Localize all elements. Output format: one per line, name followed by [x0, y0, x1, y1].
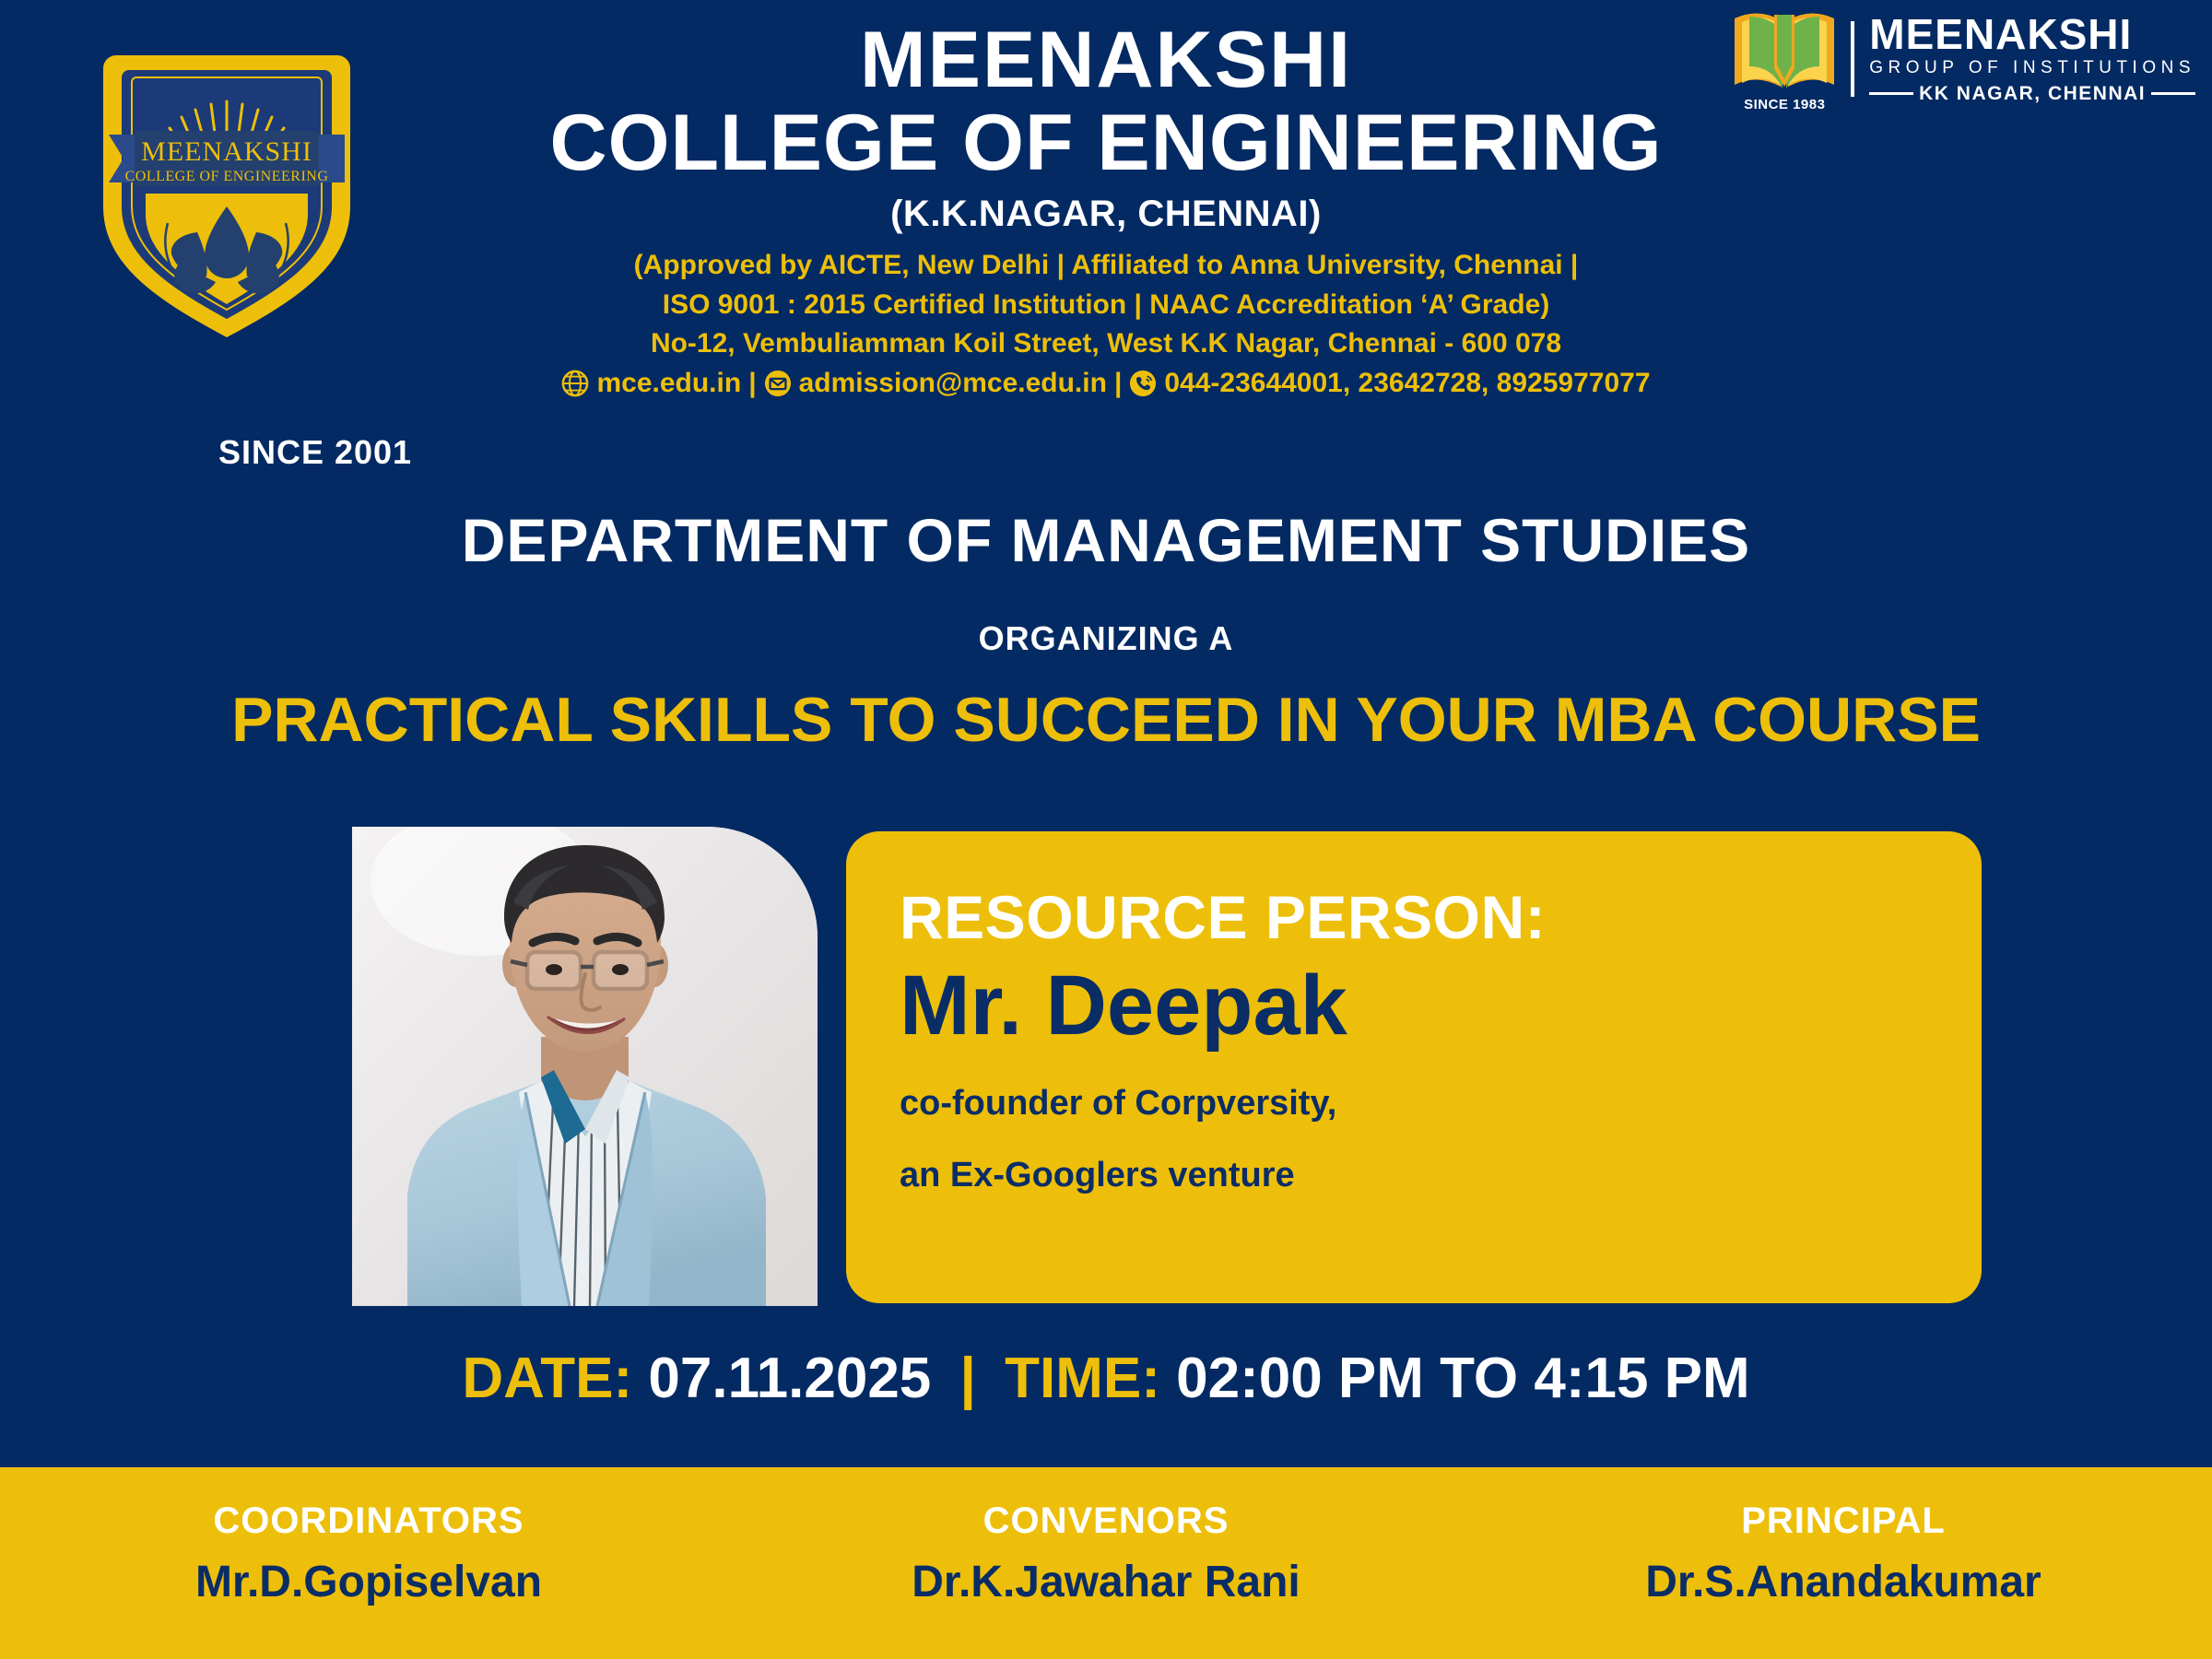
- location-rule-left: [1869, 92, 1913, 95]
- event-poster: MEENAKSHI COLLEGE OF ENGINEERING SINCE 2…: [0, 0, 2212, 1659]
- college-address: No-12, Vembuliamman Koil Street, West K.…: [461, 324, 1751, 364]
- speaker-portrait-image: [352, 827, 818, 1306]
- date-label: DATE:: [462, 1347, 632, 1410]
- schedule-separator: |: [960, 1347, 976, 1410]
- footer-role-convenors: CONVENORS: [737, 1500, 1475, 1542]
- footer-name-principal: Dr.S.Anandakumar: [1475, 1557, 2212, 1607]
- phone-contact[interactable]: 044-23644001, 23642728, 8925977077: [1129, 368, 1650, 399]
- college-name-line2: COLLEGE OF ENGINEERING: [461, 101, 1751, 184]
- schedule-row: DATE: 07.11.2025 | TIME: 02:00 PM TO 4:1…: [0, 1346, 2212, 1411]
- footer-column-coordinators: COORDINATORS Mr.D.Gopiselvan: [0, 1467, 737, 1659]
- group-logo-location-row: KK NAGAR, CHENNAI: [1869, 83, 2195, 105]
- svg-text:MEENAKSHI: MEENAKSHI: [141, 136, 312, 167]
- accreditation-block: (Approved by AICTE, New Delhi | Affiliat…: [461, 246, 1751, 364]
- footer-role-principal: PRINCIPAL: [1475, 1500, 2212, 1542]
- institution-header: MEENAKSHI COLLEGE OF ENGINEERING (K.K.NA…: [461, 20, 1751, 399]
- campus-location: (K.K.NAGAR, CHENNAI): [461, 194, 1751, 235]
- resource-person-card: RESOURCE PERSON: Mr. Deepak co-founder o…: [846, 831, 1982, 1303]
- accreditation-line2: ISO 9001 : 2015 Certified Institution | …: [461, 286, 1751, 325]
- time-value: 02:00 PM TO 4:15 PM: [1176, 1347, 1750, 1410]
- website-contact[interactable]: mce.edu.in: [561, 368, 741, 399]
- footer-column-principal: PRINCIPAL Dr.S.Anandakumar: [1475, 1467, 2212, 1659]
- resource-person-name: Mr. Deepak: [900, 960, 1982, 1052]
- logo-divider: [1851, 21, 1854, 97]
- footer-bar: COORDINATORS Mr.D.Gopiselvan CONVENORS D…: [0, 1467, 2212, 1659]
- resource-person-subtitle-1: co-founder of Corpversity,: [900, 1083, 1982, 1125]
- accreditation-line1: (Approved by AICTE, New Delhi | Affiliat…: [461, 246, 1751, 286]
- phone-text: 044-23644001, 23642728, 8925977077: [1164, 368, 1650, 399]
- website-text: mce.edu.in: [596, 368, 741, 399]
- location-rule-right: [2151, 92, 2195, 95]
- footer-role-coordinators: COORDINATORS: [0, 1500, 737, 1542]
- date-value: 07.11.2025: [648, 1347, 931, 1410]
- group-of-institutions-logo: SINCE 1983 MEENAKSHI GROUP OF INSTITUTIO…: [1731, 6, 2195, 112]
- college-name-line1: MEENAKSHI: [461, 20, 1751, 101]
- envelope-icon: [764, 370, 792, 397]
- globe-icon: [561, 370, 589, 397]
- group-logo-subtitle: GROUP OF INSTITUTIONS: [1869, 57, 2195, 80]
- organizing-label: ORGANIZING A: [0, 619, 2212, 658]
- department-title: DEPARTMENT OF MANAGEMENT STUDIES: [0, 505, 2212, 575]
- footer-name-coordinators: Mr.D.Gopiselvan: [0, 1557, 737, 1607]
- crest-since-label: SINCE 2001: [177, 433, 453, 472]
- event-title: PRACTICAL SKILLS TO SUCCEED IN YOUR MBA …: [0, 684, 2212, 756]
- resource-person-label: RESOURCE PERSON:: [900, 887, 1982, 947]
- college-crest-logo: MEENAKSHI COLLEGE OF ENGINEERING SINCE 2…: [88, 35, 365, 385]
- email-text: admission@mce.edu.in: [799, 368, 1107, 399]
- contact-separator-1: |: [748, 368, 756, 399]
- college-crest-icon: MEENAKSHI COLLEGE OF ENGINEERING: [88, 35, 365, 339]
- footer-name-convenors: Dr.K.Jawahar Rani: [737, 1557, 1475, 1607]
- time-label: TIME:: [1005, 1347, 1160, 1410]
- contact-row: mce.edu.in | admission@mce.edu.in |: [461, 368, 1751, 399]
- group-logo-text: MEENAKSHI GROUP OF INSTITUTIONS KK NAGAR…: [1869, 13, 2195, 105]
- svg-text:COLLEGE OF ENGINEERING: COLLEGE OF ENGINEERING: [125, 169, 329, 184]
- email-contact[interactable]: admission@mce.edu.in: [764, 368, 1107, 399]
- speaker-photo: [352, 827, 818, 1306]
- group-logo-name: MEENAKSHI: [1869, 13, 2195, 55]
- contact-separator-2: |: [1114, 368, 1122, 399]
- resource-person-subtitle-2: an Ex-Googlers venture: [900, 1155, 1982, 1197]
- group-logo-location: KK NAGAR, CHENNAI: [1919, 83, 2146, 105]
- footer-column-convenors: CONVENORS Dr.K.Jawahar Rani: [737, 1467, 1475, 1659]
- phone-icon: [1129, 370, 1157, 397]
